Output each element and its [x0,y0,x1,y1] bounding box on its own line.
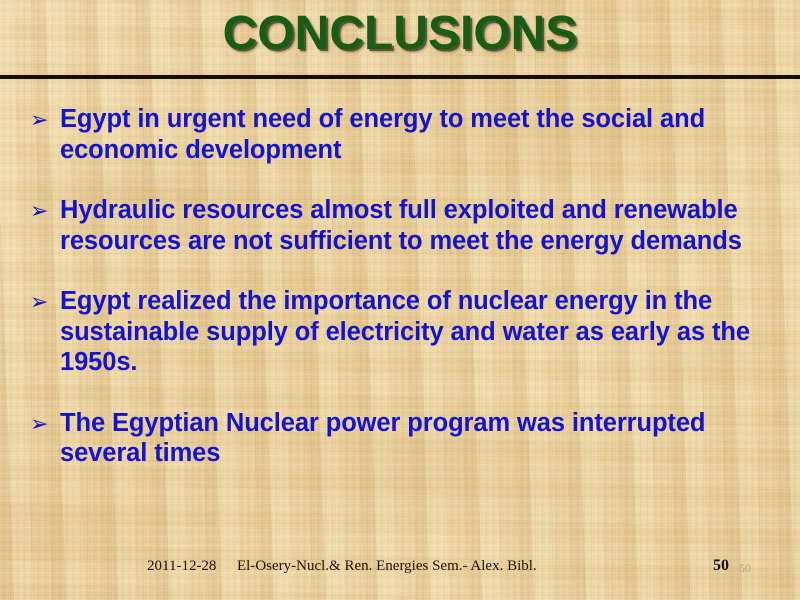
list-item-text: Hydraulic resources almost full exploite… [60,195,774,256]
footer-event-title: El-Osery-Nucl.& Ren. Energies Sem.- Alex… [237,556,537,576]
page-title: CONCLUSIONS [223,6,578,62]
slide-footer: 2011-12-28 El-Osery-Nucl.& Ren. Energies… [0,556,800,582]
title-divider [0,75,800,79]
title-area: CONCLUSIONS [0,6,800,62]
list-item: ➢ Egypt in urgent need of energy to meet… [30,104,774,165]
slide-number-ghost: 50 [739,560,751,576]
arrow-bullet-icon: ➢ [30,286,60,318]
slide-number: 50 [713,556,729,576]
arrow-bullet-icon: ➢ [30,104,60,136]
list-item: ➢ Egypt realized the importance of nucle… [30,286,774,378]
slide-canvas: CONCLUSIONS ➢ Egypt in urgent need of en… [0,0,800,600]
arrow-bullet-icon: ➢ [30,408,60,440]
list-item: ➢ The Egyptian Nuclear power program was… [30,408,774,469]
list-item-text: The Egyptian Nuclear power program was i… [60,408,774,469]
footer-date: 2011-12-28 [147,556,216,576]
list-item: ➢ Hydraulic resources almost full exploi… [30,195,774,256]
list-item-text: Egypt in urgent need of energy to meet t… [60,104,774,165]
list-item-text: Egypt realized the importance of nuclear… [60,286,774,378]
arrow-bullet-icon: ➢ [30,195,60,227]
bullet-list: ➢ Egypt in urgent need of energy to meet… [30,104,774,499]
